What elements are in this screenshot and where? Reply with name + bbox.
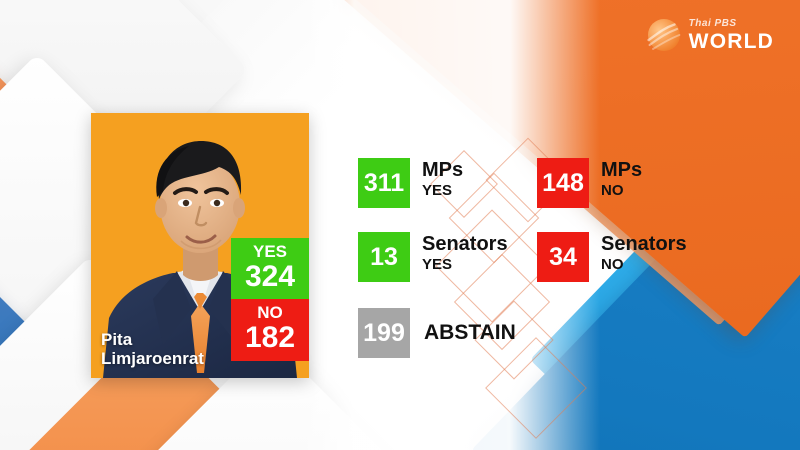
globe-sun-icon xyxy=(647,18,681,52)
stat-sub-mps-yes: YES xyxy=(422,182,463,199)
stat-sub-senators-yes: YES xyxy=(422,256,508,273)
stat-value-senators-yes: 13 xyxy=(358,232,410,282)
stat-row-senators-yes: 13 Senators YES xyxy=(358,232,508,282)
stat-text-senators-no: Senators NO xyxy=(601,232,687,273)
logo-line-world: WORLD xyxy=(689,31,774,52)
stat-text-senators-yes: Senators YES xyxy=(422,232,508,273)
stat-title-senators-yes: Senators xyxy=(422,234,508,255)
stat-title-abstain: ABSTAIN xyxy=(424,308,516,358)
stat-value-senators-no: 34 xyxy=(537,232,589,282)
stat-value-mps-yes: 311 xyxy=(358,158,410,208)
stat-title-senators-no: Senators xyxy=(601,234,687,255)
stat-row-mps-yes: 311 MPs YES xyxy=(358,158,463,208)
stat-row-mps-no: 148 MPs NO xyxy=(537,158,642,208)
logo-line-thai-pbs: Thai PBS xyxy=(689,19,774,29)
logo-wordmark: Thai PBS WORLD xyxy=(689,19,774,52)
thai-pbs-world-logo: Thai PBS WORLD xyxy=(647,18,774,52)
stat-text-mps-no: MPs NO xyxy=(601,158,642,199)
stat-row-abstain: 199 ABSTAIN xyxy=(358,308,516,358)
stat-sub-mps-no: NO xyxy=(601,182,642,199)
stat-text-mps-yes: MPs YES xyxy=(422,158,463,199)
infographic-stage: Thai PBS WORLD xyxy=(0,0,800,450)
stat-value-mps-no: 148 xyxy=(537,158,589,208)
stat-title-mps-no: MPs xyxy=(601,160,642,181)
stat-title-mps-yes: MPs xyxy=(422,160,463,181)
stat-row-senators-no: 34 Senators NO xyxy=(537,232,687,282)
vote-breakdown: 311 MPs YES 13 Senators YES 199 ABSTAIN … xyxy=(0,0,800,450)
stat-value-abstain: 199 xyxy=(358,308,410,358)
stat-sub-senators-no: NO xyxy=(601,256,687,273)
